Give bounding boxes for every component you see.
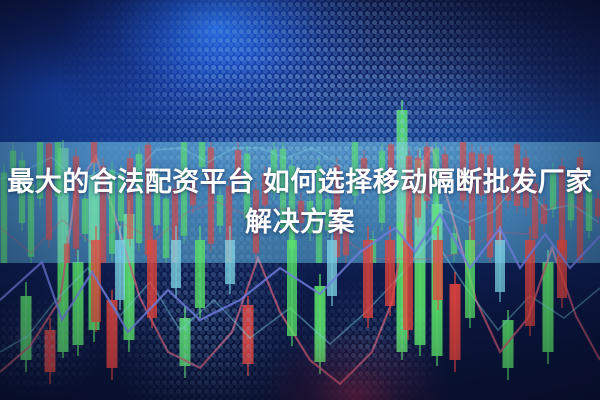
headline-line-2: 解决方案 [0, 202, 600, 242]
headline: 最大的合法配资平台 如何选择移动隔断批发厂家 解决方案 [0, 162, 600, 242]
headline-line-1: 最大的合法配资平台 如何选择移动隔断批发厂家 [7, 167, 593, 197]
stock-theme-banner: 最大的合法配资平台 如何选择移动隔断批发厂家 解决方案 [0, 0, 600, 400]
